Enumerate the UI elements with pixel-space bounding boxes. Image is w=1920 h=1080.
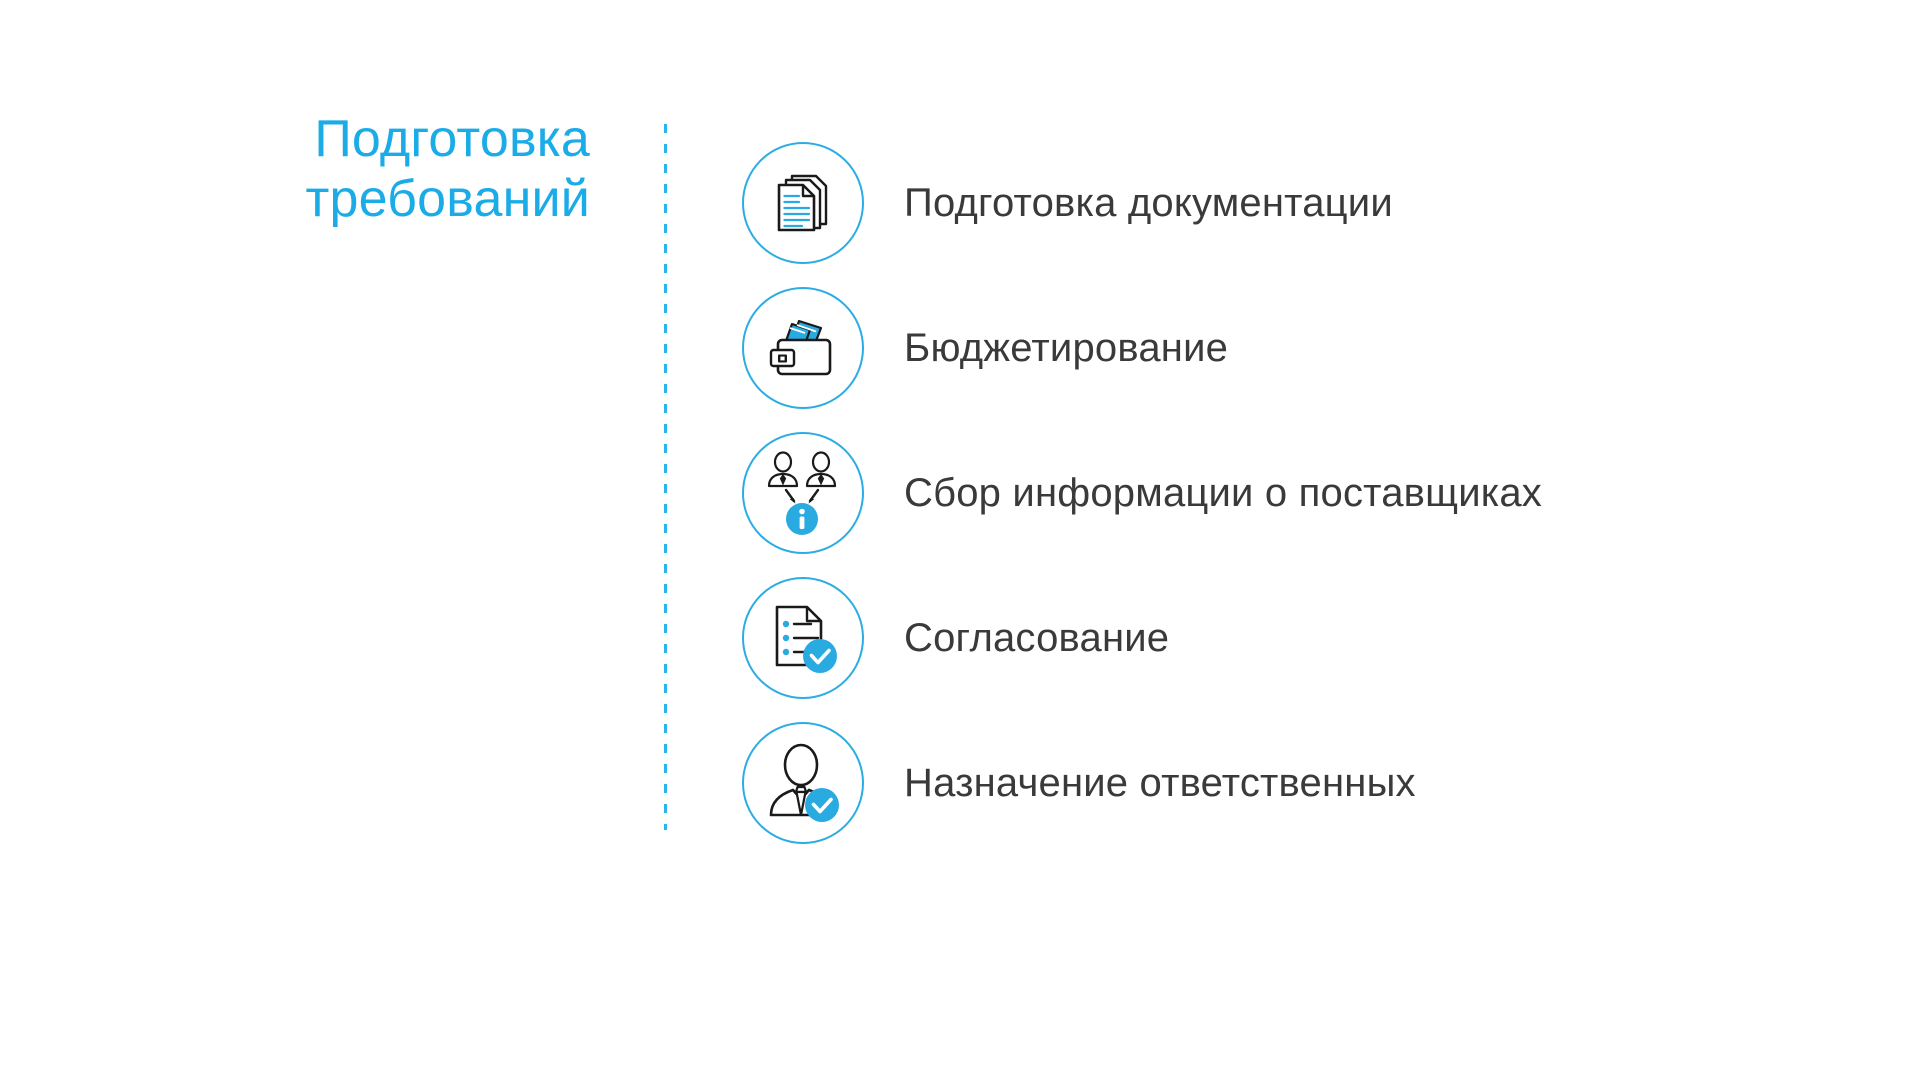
page-title-line-1: Подготовка (120, 110, 590, 170)
businessman-icon (742, 722, 864, 844)
checklist-document-icon (742, 577, 864, 699)
two-people-info-icon (742, 432, 864, 554)
list-item-label: Подготовка документации (904, 181, 1393, 225)
page-title-line-2: требований (120, 170, 590, 230)
slide-canvas: Подготовка требований (0, 0, 1920, 1080)
page-title: Подготовка требований (120, 110, 590, 230)
list-item[interactable]: Согласование (742, 565, 1842, 710)
list-item-label: Согласование (904, 616, 1169, 660)
list-item[interactable]: Бюджетирование (742, 275, 1842, 420)
list-item[interactable]: Подготовка документации (742, 130, 1842, 275)
wallet-with-banknotes-icon (742, 287, 864, 409)
steps-list: Подготовка документации Б (742, 130, 1842, 855)
vertical-dashed-divider (664, 124, 667, 830)
list-item[interactable]: Назначение ответственных (742, 710, 1842, 855)
check-badge (803, 639, 837, 673)
list-item-label: Бюджетирование (904, 326, 1228, 370)
list-item-label: Назначение ответственных (904, 761, 1416, 805)
check-badge (805, 788, 839, 822)
list-item-label: Сбор информации о поставщиках (904, 471, 1542, 515)
stacked-documents-icon (742, 142, 864, 264)
list-item[interactable]: Сбор информации о поставщиках (742, 420, 1842, 565)
